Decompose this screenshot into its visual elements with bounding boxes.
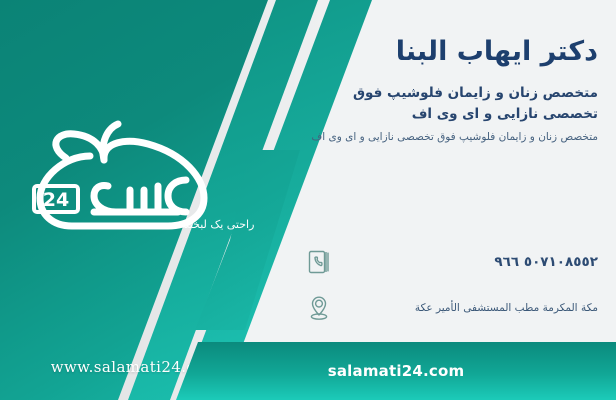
doctor-specialty: متخصص زنان و زایمان فلوشیپ فوق تخصصی ناز… (304, 83, 598, 125)
clinic-address: مكة المكرمة مطب المستشفى الأمير عكة (346, 302, 598, 314)
doctor-specialty-secondary: متخصص زنان و زایمان فلوشیپ فوق تخصصی ناز… (304, 129, 598, 146)
contact-row-address[interactable]: مكة المكرمة مطب المستشفى الأمير عكة (304, 292, 598, 324)
svg-text:24: 24 (43, 189, 69, 211)
location-pin-icon (304, 292, 334, 324)
doctor-profile-card: 24 به راحتی یک لبخند www.salamati24.com … (0, 0, 616, 400)
phone-number: ٥٠٧١٠٨٥٥٢ ٩٦٦ (346, 254, 598, 270)
logo-tagline: به راحتی یک لبخند (184, 218, 258, 231)
contact-info: ٥٠٧١٠٨٥٥٢ ٩٦٦ مكة المكرمة مطب المستشفى ا… (304, 246, 598, 338)
phonebook-icon (304, 246, 334, 278)
footer-bar: salamati24.com (176, 342, 616, 400)
contact-row-phone[interactable]: ٥٠٧١٠٨٥٥٢ ٩٦٦ (304, 246, 598, 278)
footer-url[interactable]: salamati24.com (328, 362, 465, 380)
brand-logo: 24 به راحتی یک لبخند www.salamati24.com (8, 112, 258, 262)
doctor-name: دکتر ايهاب البنا (304, 34, 598, 69)
